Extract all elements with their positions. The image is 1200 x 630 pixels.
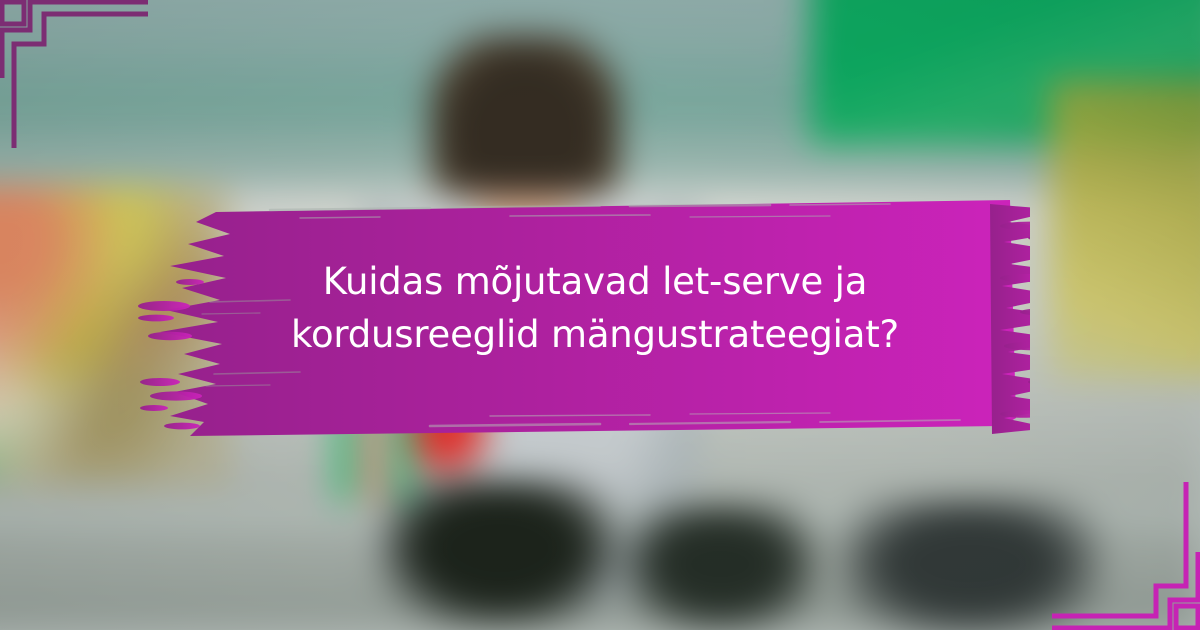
page-title: Kuidas mõjutavad let-serve ja kordusreeg… xyxy=(215,256,975,361)
corner-ornament-bottom-right xyxy=(1050,480,1200,630)
corner-ornament-top-left xyxy=(0,0,150,150)
social-card: Kuidas mõjutavad let-serve ja kordusreeg… xyxy=(0,0,1200,630)
headline-banner: Kuidas mõjutavad let-serve ja kordusreeg… xyxy=(130,186,1030,448)
